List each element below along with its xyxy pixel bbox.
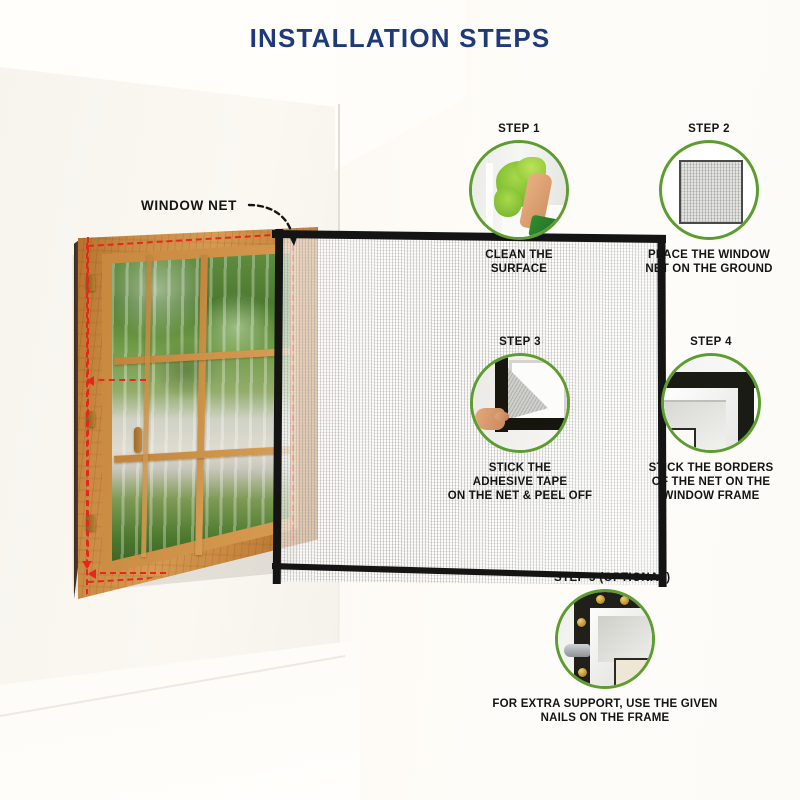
step-1-image xyxy=(469,140,569,240)
dimension-arrow-bottom xyxy=(90,572,166,574)
step-3-title: STEP 3 xyxy=(470,336,570,348)
step-1-card: STEP 1 CLEAN THE SURFACE xyxy=(469,123,569,276)
step-4-title: STEP 4 xyxy=(661,336,761,348)
nail-icon xyxy=(596,595,605,604)
window-notch xyxy=(664,428,696,453)
window-handle-icon xyxy=(564,644,590,657)
curved-dashed-arrow-icon xyxy=(246,199,306,251)
step-1-title: STEP 1 xyxy=(469,123,569,135)
finger-icon xyxy=(495,412,509,421)
mesh-square-icon xyxy=(679,160,743,224)
step-4-card: STEP 4 STICK THE BORDERS OF THE NET ON T… xyxy=(661,336,761,503)
nail-icon xyxy=(620,596,629,605)
step-3-caption: STICK THE ADHESIVE TAPE ON THE NET & PEE… xyxy=(444,461,596,503)
cleaning-cloth-lower-icon xyxy=(494,187,522,217)
step-4-image xyxy=(661,353,761,453)
step-4-caption: STICK THE BORDERS OF THE NET ON THE WIND… xyxy=(641,461,781,503)
wall-trim xyxy=(486,163,493,237)
step-5-image xyxy=(555,589,655,689)
measure-right-segment xyxy=(292,235,294,541)
step-2-title: STEP 2 xyxy=(655,123,763,135)
nail-icon xyxy=(577,618,586,627)
step-1-caption: CLEAN THE SURFACE xyxy=(469,248,569,276)
window-lower-panel xyxy=(614,658,654,688)
glove-cuff-icon xyxy=(528,215,560,240)
window-net-label: WINDOW NET xyxy=(141,198,237,213)
step-2-card: STEP 2 PLACE THE WINDOW NET ON THE GROUN… xyxy=(655,123,763,276)
step-3-image xyxy=(470,353,570,453)
step-2-image xyxy=(659,140,759,240)
step-5-card: STEP 5 (OPTIONAL) FOR EXTRA SUPPORT, USE… xyxy=(555,572,655,725)
step-3-card: STEP 3 STICK THE ADHESIVE TAPE ON THE NE… xyxy=(470,336,570,503)
poster-canvas: INSTALLATION STEPS xyxy=(0,0,800,800)
net-border-right-icon xyxy=(738,372,754,452)
dimension-arrow-left xyxy=(88,379,146,381)
window-net-illustration xyxy=(60,215,420,615)
step-5-title: STEP 5 (OPTIONAL) xyxy=(554,572,655,584)
page-title: INSTALLATION STEPS xyxy=(0,23,800,54)
measurement-outline xyxy=(84,231,312,595)
step-2-caption: PLACE THE WINDOW NET ON THE GROUND xyxy=(645,248,773,276)
window-inner-pane xyxy=(598,616,652,662)
step-5-caption: FOR EXTRA SUPPORT, USE THE GIVEN NAILS O… xyxy=(478,697,732,725)
dimension-arrow-vertical xyxy=(87,237,89,567)
nail-icon xyxy=(578,668,587,677)
